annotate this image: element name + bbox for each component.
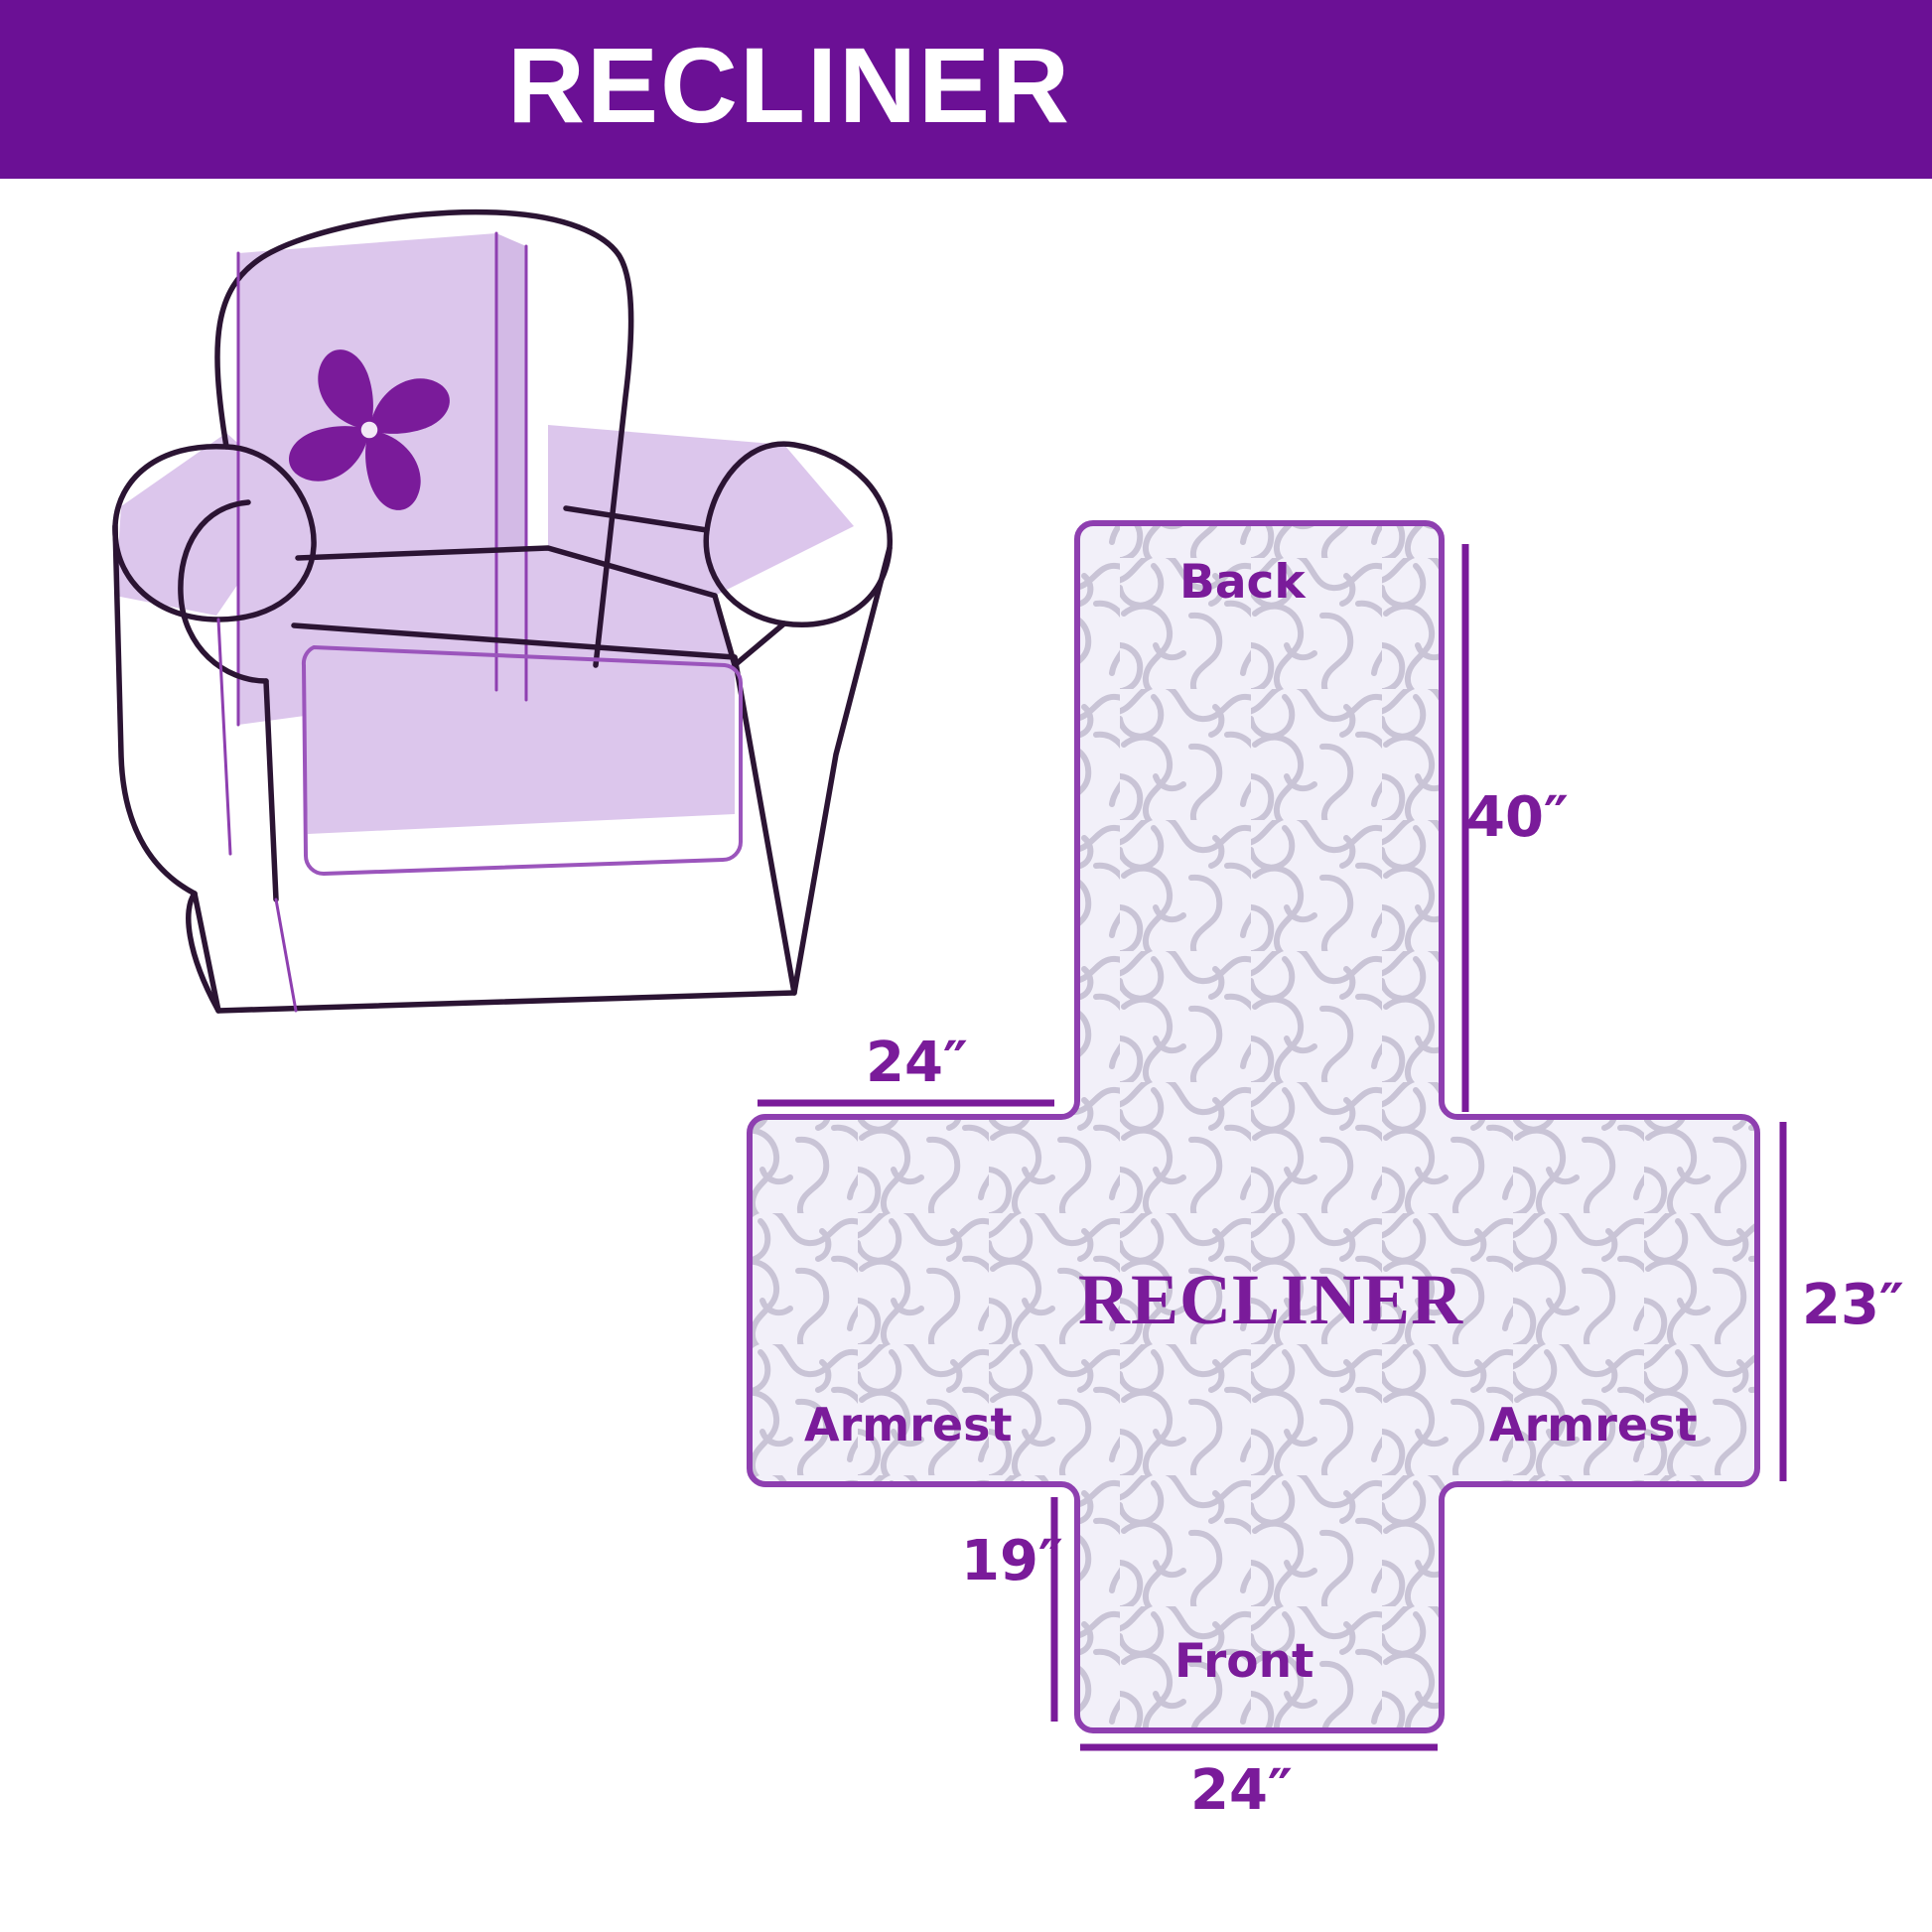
dimension-label-front-height: 19″ xyxy=(961,1534,1063,1589)
panel-label-armrest-left: Armrest xyxy=(804,1402,1012,1448)
dimension-label-armrest-height: 23″ xyxy=(1802,1278,1904,1333)
cover-center-label: RECLINER xyxy=(1078,1264,1463,1335)
dimension-label-armrest-width: 24″ xyxy=(866,1035,968,1091)
panel-label-back: Back xyxy=(1179,559,1306,606)
size-chart-page: RECLINER xyxy=(0,0,1932,1932)
dimension-label-front-width: 24″ xyxy=(1190,1763,1293,1819)
panel-label-front: Front xyxy=(1174,1638,1314,1685)
dimension-label-back-height: 40″ xyxy=(1466,790,1569,846)
panel-label-armrest-right: Armrest xyxy=(1489,1402,1697,1448)
header-banner: RECLINER xyxy=(0,0,1932,179)
page-title: RECLINER xyxy=(507,32,1071,139)
